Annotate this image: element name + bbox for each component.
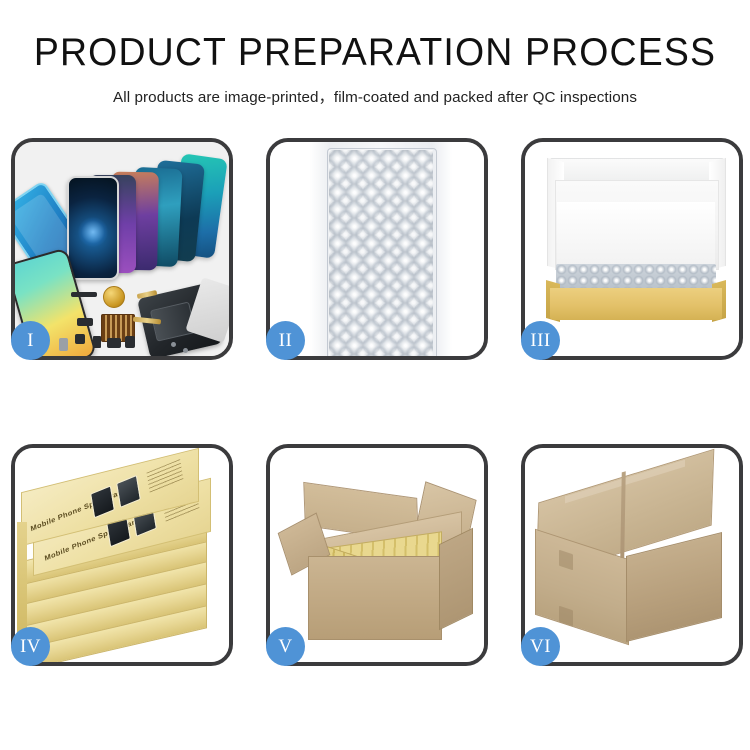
button-part-icon	[125, 336, 135, 348]
product-preparation-process-infographic: PRODUCT PREPARATION PROCESS All products…	[0, 0, 750, 750]
carton-front-panel	[308, 556, 442, 640]
sealed-carton-scene	[525, 448, 739, 662]
ic-chip-icon	[77, 318, 93, 326]
screw-icon	[171, 342, 176, 347]
speaker-part-icon	[93, 336, 101, 348]
box-front-panel	[550, 288, 722, 320]
bubble-wrap-edge	[327, 148, 437, 356]
process-step-panel-1: I	[11, 138, 233, 360]
carton-front-right-face	[626, 532, 722, 642]
step-badge-1: I	[11, 321, 50, 360]
process-step-panel-2: II	[266, 138, 488, 360]
process-step-panel-4: Mobile Phone Spare Parts Mobile Phone Sp…	[11, 444, 233, 666]
process-step-panel-3: III	[521, 138, 743, 360]
stacked-retail-boxes-scene: Mobile Phone Spare Parts Mobile Phone Sp…	[15, 448, 229, 662]
box-spec-lines-1	[146, 459, 183, 494]
step-2-image	[270, 142, 484, 356]
open-retail-box-scene	[525, 142, 739, 356]
step-badge-2: II	[266, 321, 305, 360]
process-step-panel-6: VI	[521, 444, 743, 666]
box-foam-liner	[557, 202, 715, 266]
open-carton-scene	[270, 448, 484, 662]
page-subtitle: All products are image-printed，film-coat…	[0, 74, 750, 107]
carton-side-panel	[439, 528, 473, 631]
vibrator-part-icon	[107, 338, 121, 348]
phone-parts-scene	[15, 142, 229, 356]
header: PRODUCT PREPARATION PROCESS All products…	[0, 0, 750, 107]
step-6-image	[525, 448, 739, 662]
step-3-image	[525, 142, 739, 356]
small-part-icon	[75, 334, 85, 344]
antenna-strip-icon	[71, 292, 97, 297]
step-4-image: Mobile Phone Spare Parts Mobile Phone Sp…	[15, 448, 229, 662]
phone-tempered-glass-icon	[67, 176, 119, 280]
box-screen-art-1	[90, 485, 115, 518]
box-screen-art-2	[116, 475, 141, 508]
process-step-panel-5: V	[266, 444, 488, 666]
step-badge-6: VI	[521, 627, 560, 666]
bubble-wrap-scene	[270, 142, 484, 356]
step-badge-4: IV	[11, 627, 50, 666]
page-title: PRODUCT PREPARATION PROCESS	[15, 0, 735, 74]
process-steps-grid: I II	[11, 138, 739, 666]
step-5-image	[270, 448, 484, 662]
screw-2-icon	[183, 348, 188, 353]
bubble-wrapped-contents	[556, 264, 716, 290]
step-badge-3: III	[521, 321, 560, 360]
camera-lens-icon	[103, 286, 125, 308]
step-1-image	[15, 142, 229, 356]
sim-tray-icon	[59, 338, 68, 351]
step-badge-5: V	[266, 627, 305, 666]
